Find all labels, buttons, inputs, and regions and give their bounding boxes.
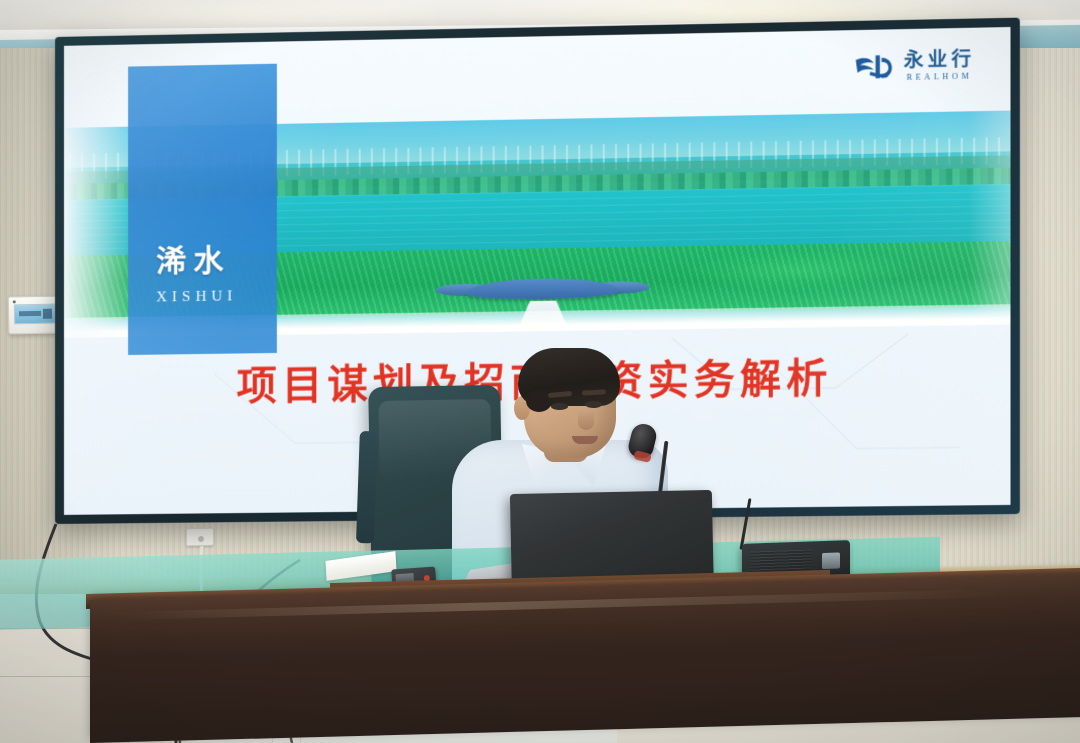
presenter-eye [551,403,568,410]
company-name-en: REALHOM [907,73,973,82]
region-name-en: XISHUI [156,288,237,306]
wall-control-panel[interactable] [8,296,61,335]
panel-lcd [14,304,56,325]
speaker-unit-display [822,552,840,569]
panel-indicator-dot [13,300,16,303]
conference-room-photo: 浠水 XISHUI [0,0,1080,743]
company-logo: 永业行 REALHOM [853,50,975,83]
photo-left-fade [64,127,134,338]
presenter-nose [578,410,594,430]
presenter-mouth [572,436,598,444]
company-name-cn: 永业行 [904,50,975,71]
chair-side-wing [356,431,378,544]
slide-region-band: 浠水 XISHUI [128,64,277,355]
presenter-hair [518,348,620,406]
yh-monogram-icon [853,52,894,83]
wall-power-outlet[interactable] [186,528,214,546]
photo-civic-building [467,273,620,310]
region-name-cn: 浠水 [156,235,230,280]
presenter-eye [585,401,602,408]
photo-right-fade [969,111,1010,326]
